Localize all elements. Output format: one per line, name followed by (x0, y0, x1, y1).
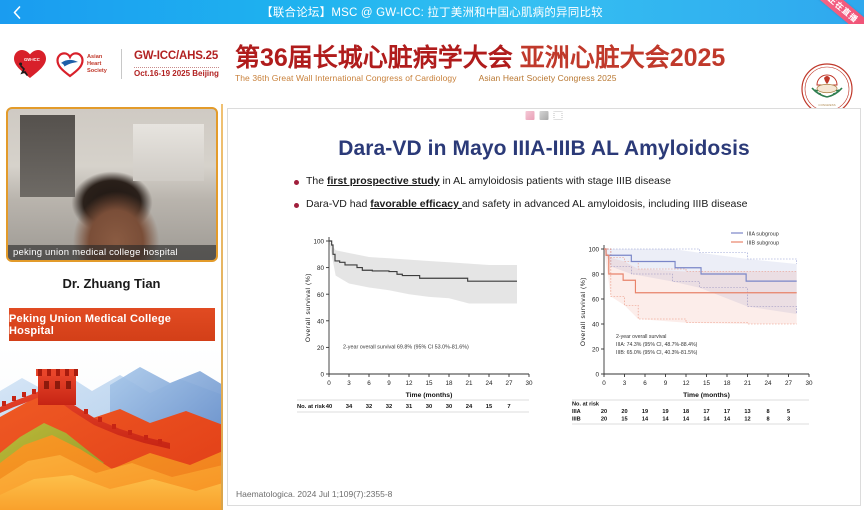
svg-text:31: 31 (406, 404, 413, 410)
svg-text:IIIA: IIIA (572, 409, 581, 415)
svg-text:14: 14 (642, 417, 649, 423)
list-item: Dara-VD had favorable efficacy and safet… (294, 198, 814, 212)
svg-text:14: 14 (683, 417, 690, 423)
svg-text:24: 24 (485, 380, 493, 387)
event-code: GW-ICC/AHS.25 (134, 49, 219, 63)
svg-text:18: 18 (445, 380, 453, 387)
svg-text:0: 0 (327, 380, 331, 387)
svg-text:8: 8 (766, 409, 769, 415)
watchtower (36, 369, 78, 405)
svg-text:IIIB: 65.0% (95% CI, 40.3%-81: IIIB: 65.0% (95% CI, 40.3%-81.5%) (616, 350, 698, 356)
speaker-name: Dr. Zhuang Tian (0, 276, 223, 291)
svg-text:12: 12 (682, 380, 690, 387)
top-bar: 【联合论坛】MSC @ GW-ICC: 拉丁美洲和中国心肌病的异同比较 正在直播 (0, 0, 864, 24)
svg-text:17: 17 (724, 409, 730, 415)
dotted-divider (134, 65, 219, 68)
svg-text:20: 20 (592, 347, 600, 354)
svg-text:32: 32 (366, 404, 372, 410)
svg-text:IIIB: IIIB (572, 417, 581, 423)
svg-text:30: 30 (426, 404, 432, 410)
congress-title-en: The 36th Great Wall International Congre… (235, 73, 725, 83)
svg-text:Overall survival (%): Overall survival (%) (305, 273, 312, 342)
asian-heart-society-logo-icon: AsianHeartSociety (55, 48, 109, 80)
svg-text:IIIA subgroup: IIIA subgroup (747, 231, 779, 237)
live-stream-page: 【联合论坛】MSC @ GW-ICC: 拉丁美洲和中国心肌病的异同比较 正在直播… (0, 0, 864, 510)
logo-group: GW-ICC AsianHeartSociety GW-ICC/AHS.25 O… (0, 47, 219, 81)
svg-text:15: 15 (425, 380, 433, 387)
svg-text:IIIA: 74.3% (95% CI, 48.7%-88: IIIA: 74.3% (95% CI, 48.7%-88.4%) (616, 342, 698, 348)
svg-text:6: 6 (367, 380, 371, 387)
svg-text:40: 40 (592, 322, 600, 329)
svg-text:5: 5 (787, 409, 790, 415)
svg-text:7: 7 (507, 404, 510, 410)
snapshot-icon[interactable] (526, 111, 535, 120)
svg-text:0: 0 (602, 380, 606, 387)
svg-text:34: 34 (346, 404, 353, 410)
congress-title-en-part2: Asian Heart Society Congress 2025 (479, 73, 617, 83)
congress-title-cn: 第36届长城心脏病学大会 亚洲心脏大会2025 (235, 45, 725, 71)
event-dates: Oct.16-19 2025 Beijing (134, 69, 219, 79)
svg-text:18: 18 (683, 409, 689, 415)
bullet-text: The first prospective study in AL amyloi… (306, 175, 671, 189)
svg-text:3: 3 (347, 380, 351, 387)
svg-text:CONGRESS: CONGRESS (818, 103, 835, 107)
expand-icon[interactable] (554, 111, 563, 120)
svg-text:Overall survival (%): Overall survival (%) (580, 277, 587, 346)
list-item: The first prospective study in AL amyloi… (294, 175, 814, 189)
bullet-post: in AL amyloidosis patients with stage II… (440, 175, 671, 187)
svg-text:20: 20 (601, 409, 607, 415)
svg-text:24: 24 (764, 380, 772, 387)
speaker-affiliation: Peking Union Medical College Hospital (9, 308, 215, 341)
svg-text:2-year overall survival 69.8%: 2-year overall survival 69.8% (95% CI 53… (343, 345, 469, 351)
svg-text:0: 0 (320, 372, 324, 379)
svg-text:21: 21 (744, 380, 752, 387)
svg-text:8: 8 (766, 417, 769, 423)
bullet-emphasis: first prospective study (327, 175, 440, 187)
svg-text:100: 100 (313, 239, 324, 246)
bullet-pre: The (306, 175, 327, 187)
svg-text:15: 15 (486, 404, 493, 410)
svg-text:60: 60 (592, 297, 600, 304)
svg-text:9: 9 (387, 380, 391, 387)
slide-toolbar[interactable] (526, 111, 563, 120)
svg-text:Time (months): Time (months) (683, 392, 730, 399)
svg-text:2-year overall survival: 2-year overall survival (616, 334, 666, 340)
svg-text:14: 14 (662, 417, 669, 423)
svg-text:15: 15 (703, 380, 711, 387)
svg-text:30: 30 (805, 380, 813, 387)
svg-text:13: 13 (744, 409, 750, 415)
svg-text:0: 0 (595, 372, 599, 379)
slide-bullets: The first prospective study in AL amyloi… (294, 175, 814, 220)
speaker-video[interactable]: peking union medical college hospital (6, 107, 218, 262)
svg-text:9: 9 (664, 380, 668, 387)
svg-text:80: 80 (317, 265, 325, 272)
svg-text:3: 3 (623, 380, 627, 387)
fullscreen-icon[interactable] (540, 111, 549, 120)
chart-row: 020406080100036912151821242730Time (mont… (228, 227, 860, 452)
svg-text:17: 17 (703, 409, 709, 415)
svg-text:40: 40 (326, 404, 332, 410)
svg-text:27: 27 (505, 380, 513, 387)
svg-text:Time (months): Time (months) (406, 392, 453, 399)
congress-title-en-part1: The 36th Great Wall International Congre… (235, 73, 457, 83)
svg-text:19: 19 (662, 409, 668, 415)
chart-overall-survival-by-stage: 020406080100036912151821242730Time (mont… (548, 227, 843, 442)
svg-text:20: 20 (601, 417, 607, 423)
svg-text:20: 20 (317, 345, 325, 352)
speaker-video-caption: peking union medical college hospital (8, 245, 216, 260)
event-code-block: GW-ICC/AHS.25 Oct.16-19 2025 Beijing (134, 49, 219, 78)
panel-gold-edge (221, 104, 223, 510)
svg-text:20: 20 (621, 409, 627, 415)
bullet-text: Dara-VD had favorable efficacy and safet… (306, 198, 747, 212)
speaker-panel: peking union medical college hospital Dr… (0, 104, 223, 510)
bullet-pre: Dara-VD had (306, 198, 370, 210)
svg-text:12: 12 (744, 417, 750, 423)
svg-text:19: 19 (642, 409, 648, 415)
gw-icc-logo-icon: GW-ICC (12, 47, 48, 81)
chart-overall-survival-all: 020406080100036912151821242730Time (mont… (283, 227, 548, 442)
svg-text:14: 14 (724, 417, 731, 423)
svg-text:6: 6 (643, 380, 647, 387)
svg-text:60: 60 (317, 292, 325, 299)
svg-text:32: 32 (386, 404, 392, 410)
logo-divider (121, 49, 122, 79)
stream-title: 【联合论坛】MSC @ GW-ICC: 拉丁美洲和中国心肌病的异同比较 (0, 4, 864, 20)
svg-text:14: 14 (703, 417, 710, 423)
congress-header: GW-ICC AsianHeartSociety GW-ICC/AHS.25 O… (0, 24, 864, 104)
bullet-emphasis: favorable efficacy (370, 198, 462, 210)
bullet-post: and safety in advanced AL amyloidosis, i… (462, 198, 748, 210)
svg-text:30: 30 (446, 404, 452, 410)
svg-text:12: 12 (405, 380, 413, 387)
svg-text:No. at risk: No. at risk (572, 402, 600, 408)
slide-title: Dara-VD in Mayo IIIA-IIIB AL Amyloidosis (228, 137, 860, 161)
svg-text:GW-ICC: GW-ICC (24, 57, 40, 62)
great-wall-illustration (0, 345, 223, 510)
svg-text:21: 21 (465, 380, 473, 387)
congress-title-cn-part1: 第36届长城心脏病学大会 (235, 44, 513, 72)
svg-text:30: 30 (525, 380, 533, 387)
asian-heart-society-label: AsianHeartSociety (87, 54, 107, 75)
congress-title-cn-part2: 亚洲心脏大会2025 (520, 44, 726, 72)
slide-citation: Haematologica. 2024 Jul 1;109(7):2355-8 (236, 489, 392, 499)
slide-viewer[interactable]: Dara-VD in Mayo IIIA-IIIB AL Amyloidosis… (227, 108, 861, 506)
svg-text:100: 100 (588, 247, 599, 254)
svg-text:24: 24 (466, 404, 473, 410)
speaker-video-frame (8, 109, 216, 260)
svg-text:3: 3 (787, 417, 790, 423)
svg-text:40: 40 (317, 318, 325, 325)
bullet-dot-icon (294, 203, 299, 208)
svg-text:No. at risk: No. at risk (297, 404, 326, 410)
svg-text:80: 80 (592, 272, 600, 279)
svg-text:27: 27 (785, 380, 793, 387)
svg-text:18: 18 (723, 380, 731, 387)
congress-title-block: 第36届长城心脏病学大会 亚洲心脏大会2025 The 36th Great W… (235, 45, 725, 83)
bullet-dot-icon (294, 180, 299, 185)
svg-text:IIIB subgroup: IIIB subgroup (747, 240, 779, 246)
svg-text:15: 15 (621, 417, 627, 423)
